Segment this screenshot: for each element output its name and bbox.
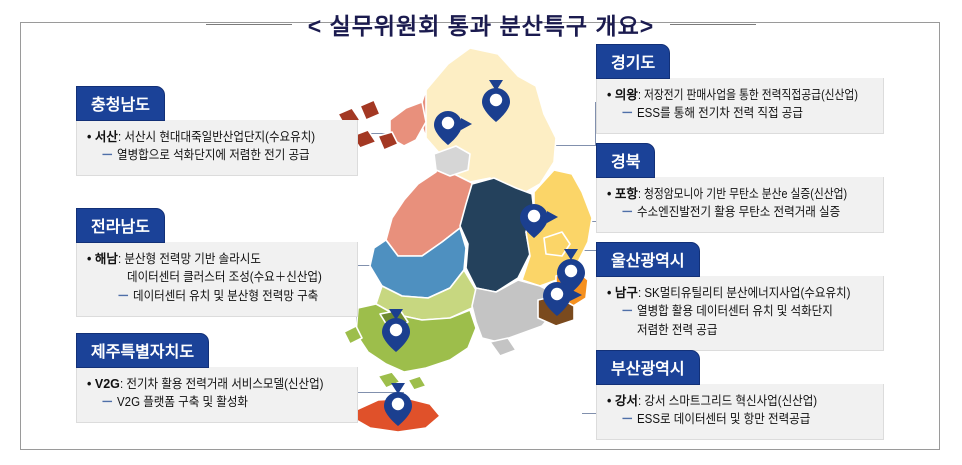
panel-chungnam-detail: 열병합으로 석화단지에 저렴한 전기 공급 (117, 146, 310, 165)
title-rule-left (206, 24, 292, 25)
panel-chungnam-project-line: • 서산: 서산시 현대대죽일반산업단지(수요유치) (87, 128, 347, 146)
panel-busan-detail-line: － ESS로 데이터센터 및 항만 전력공급 (607, 410, 873, 429)
bullet-dot: • (607, 394, 615, 408)
panel-gyeonggi-detail: ESS를 통해 전기차 전력 직접 공급 (637, 104, 803, 123)
panel-gyeonggi-body: • 의왕: 저장전기 판매사업을 통한 전력직접공급(신산업) － ESS를 통… (596, 78, 884, 134)
panel-jeju-project: : 전기차 활용 전력거래 서비스모델(신산업) (120, 375, 324, 393)
panel-ulsan-detail2: 저렴한 전력 공급 (637, 321, 717, 340)
bullet-dot: • (607, 286, 615, 300)
title-rule-right (670, 24, 756, 25)
bullet-dot: • (607, 187, 615, 201)
panel-ulsan-project: : SK멀티유틸리티 분산에너지사업(수요유치) (638, 284, 850, 302)
panel-jeju-project-line: • V2G: 전기차 활용 전력거래 서비스모델(신산업) (87, 375, 347, 393)
panel-jeonnam-detail: 데이터센터 유치 및 분산형 전력망 구축 (133, 287, 318, 306)
panel-jeonnam-place: 해남 (95, 252, 118, 266)
panel-busan-body: • 강서: 강서 스마트그리드 혁신사업(신산업) － ESS로 데이터센터 및… (596, 384, 884, 440)
panel-gyeongbuk-project-line: • 포항: 청정암모니아 기반 무탄소 분산e 실증(신산업) (607, 185, 873, 203)
panel-jeonnam-project-line: • 해남: 분산형 전력망 기반 솔라시도 (87, 250, 347, 268)
page-title-text: < 실무위원회 통과 분산특구 개요> (308, 7, 655, 41)
panel-ulsan-project-line: • 남구: SK멀티유틸리티 분산에너지사업(수요유치) (607, 284, 873, 302)
region-jeonnam-isl3 (408, 376, 426, 390)
region-gyeongnam-isl (490, 338, 516, 356)
panel-jeju-detail: V2G 플랫폼 구축 및 활성화 (117, 393, 248, 412)
panel-gyeonggi: 경기도 • 의왕: 저장전기 판매사업을 통한 전력직접공급(신산업) － ES… (596, 44, 884, 134)
panel-busan-detail: ESS로 데이터센터 및 항만 전력공급 (637, 410, 810, 429)
panel-jeju-place: V2G (95, 377, 120, 391)
panel-jeonnam-project-line2: 데이터센터 클러스터 조성(수요＋신산업) (87, 268, 347, 287)
panel-ulsan-place: 남구 (615, 286, 638, 300)
panel-gyeonggi-header: 경기도 (596, 44, 670, 79)
panel-busan-header: 부산광역시 (596, 350, 700, 385)
panel-gyeongbuk-header: 경북 (596, 143, 655, 178)
panel-jeju-body: • V2G: 전기차 활용 전력거래 서비스모델(신산업) － V2G 플랫폼 … (76, 367, 358, 423)
dash-mark: － (621, 205, 637, 219)
region-incheon-islands-2 (360, 100, 380, 120)
panel-jeonnam-body: • 해남: 분산형 전력망 기반 솔라시도 데이터센터 클러스터 조성(수요＋신… (76, 242, 358, 317)
panel-ulsan: 울산광역시 • 남구: SK멀티유틸리티 분산에너지사업(수요유치) － 열병합… (596, 242, 884, 351)
panel-chungnam-header: 충청남도 (76, 86, 165, 121)
panel-busan: 부산광역시 • 강서: 강서 스마트그리드 혁신사업(신산업) － ESS로 데… (596, 350, 884, 440)
panel-jeonnam: 전라남도 • 해남: 분산형 전력망 기반 솔라시도 데이터센터 클러스터 조성… (76, 208, 358, 317)
panel-ulsan-detail-line2: 저렴한 전력 공급 (607, 321, 873, 340)
bullet-dot: • (87, 130, 95, 144)
bullet-dot: • (87, 377, 95, 391)
dash-mark: － (621, 412, 637, 426)
panel-ulsan-detail-line: － 열병합 활용 데이터센터 유치 및 석화단지 (607, 302, 873, 321)
panel-chungnam-body: • 서산: 서산시 현대대죽일반산업단지(수요유치) － 열병합으로 석화단지에… (76, 120, 358, 176)
panel-jeonnam-project2: 데이터센터 클러스터 조성(수요＋신산업) (127, 268, 322, 287)
dash-mark: － (621, 106, 637, 120)
panel-chungnam-detail-line: － 열병합으로 석화단지에 저렴한 전기 공급 (87, 146, 347, 165)
panel-jeju-header: 제주특별자치도 (76, 333, 209, 368)
panel-busan-project: : 강서 스마트그리드 혁신사업(신산업) (638, 392, 817, 410)
panel-jeju: 제주특별자치도 • V2G: 전기차 활용 전력거래 서비스모델(신산업) － … (76, 333, 358, 423)
panel-gyeonggi-detail-line: － ESS를 통해 전기차 전력 직접 공급 (607, 104, 873, 123)
panel-gyeongbuk-project: : 청정암모니아 기반 무탄소 분산e 실증(신산업) (638, 185, 847, 203)
panel-gyeongbuk-body: • 포항: 청정암모니아 기반 무탄소 분산e 실증(신산업) － 수소엔진발전… (596, 177, 884, 233)
dash-mark: － (101, 395, 117, 409)
panel-gyeonggi-project-line: • 의왕: 저장전기 판매사업을 통한 전력직접공급(신산업) (607, 86, 873, 104)
page-title: < 실무위원회 통과 분산특구 개요> (0, 4, 962, 44)
panel-gyeongbuk: 경북 • 포항: 청정암모니아 기반 무탄소 분산e 실증(신산업) － 수소엔… (596, 143, 884, 233)
panel-jeonnam-project: : 분산형 전력망 기반 솔라시도 (118, 250, 261, 268)
korea-map (330, 42, 630, 442)
bullet-dot: • (607, 88, 615, 102)
panel-gyeongbuk-detail-line: － 수소엔진발전기 활용 무탄소 전력거래 실증 (607, 203, 873, 222)
panel-gyeonggi-place: 의왕 (615, 88, 638, 102)
panel-busan-project-line: • 강서: 강서 스마트그리드 혁신사업(신산업) (607, 392, 873, 410)
panel-ulsan-detail: 열병합 활용 데이터센터 유치 및 석화단지 (637, 302, 833, 321)
panel-chungnam-place: 서산 (95, 130, 118, 144)
panel-busan-place: 강서 (615, 394, 638, 408)
panel-chungnam: 충청남도 • 서산: 서산시 현대대죽일반산업단지(수요유치) － 열병합으로 … (76, 86, 358, 176)
panel-jeonnam-detail-line: － 데이터센터 유치 및 분산형 전력망 구축 (87, 287, 347, 306)
panel-gyeongbuk-detail: 수소엔진발전기 활용 무탄소 전력거래 실증 (637, 203, 840, 222)
panel-ulsan-body: • 남구: SK멀티유틸리티 분산에너지사업(수요유치) － 열병합 활용 데이… (596, 276, 884, 351)
panel-jeju-detail-line: － V2G 플랫폼 구축 및 활성화 (87, 393, 347, 412)
dash-mark: － (101, 148, 117, 162)
panel-gyeonggi-project: : 저장전기 판매사업을 통한 전력직접공급(신산업) (638, 86, 858, 104)
panel-ulsan-header: 울산광역시 (596, 242, 700, 277)
panel-gyeongbuk-place: 포항 (615, 187, 638, 201)
panel-chungnam-project: : 서산시 현대대죽일반산업단지(수요유치) (118, 128, 315, 146)
panel-jeonnam-header: 전라남도 (76, 208, 165, 243)
bullet-dot: • (87, 252, 95, 266)
dash-mark: － (117, 289, 133, 303)
dash-mark: － (621, 304, 637, 318)
